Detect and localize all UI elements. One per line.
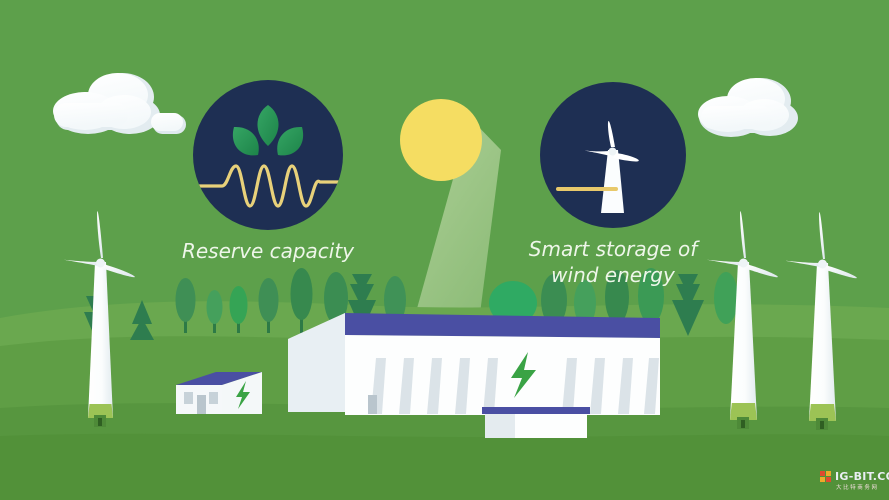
house-door (197, 395, 206, 414)
house-window-left (184, 392, 193, 404)
smart-storage-label-line1: Smart storage of (529, 237, 700, 261)
warehouse-wall (345, 335, 660, 415)
warehouse-side-door (368, 395, 377, 414)
ground-strip (0, 434, 889, 500)
warehouse-annex (482, 407, 590, 438)
battery-warehouse (288, 313, 660, 415)
scene-svg: Reserve capacity Smart storage of wind e… (0, 0, 889, 500)
gold-bar-icon (556, 187, 618, 191)
badge-circle-left (193, 80, 343, 230)
illustration-canvas: Reserve capacity Smart storage of wind e… (0, 0, 889, 500)
turbine-door (98, 418, 102, 426)
turbine-hub (96, 259, 105, 268)
turbine-hub (818, 260, 827, 269)
reserve-capacity-label: Reserve capacity (182, 239, 355, 263)
turbine-door (741, 420, 745, 428)
turbine-hub (739, 259, 748, 268)
annex-wall-shade (485, 414, 515, 438)
smart-storage-label-line2: wind energy (551, 263, 676, 287)
turbine-door (820, 421, 824, 429)
house-window-right (209, 392, 218, 404)
tree (714, 272, 738, 324)
annex-roof (482, 407, 590, 414)
cloud-left-small (151, 113, 186, 134)
icon-hub (609, 148, 617, 156)
watermark-text: IG-BIT.COM (835, 470, 889, 483)
watermark-subtext: 大比特商务网 (836, 483, 879, 491)
sun (400, 99, 482, 181)
